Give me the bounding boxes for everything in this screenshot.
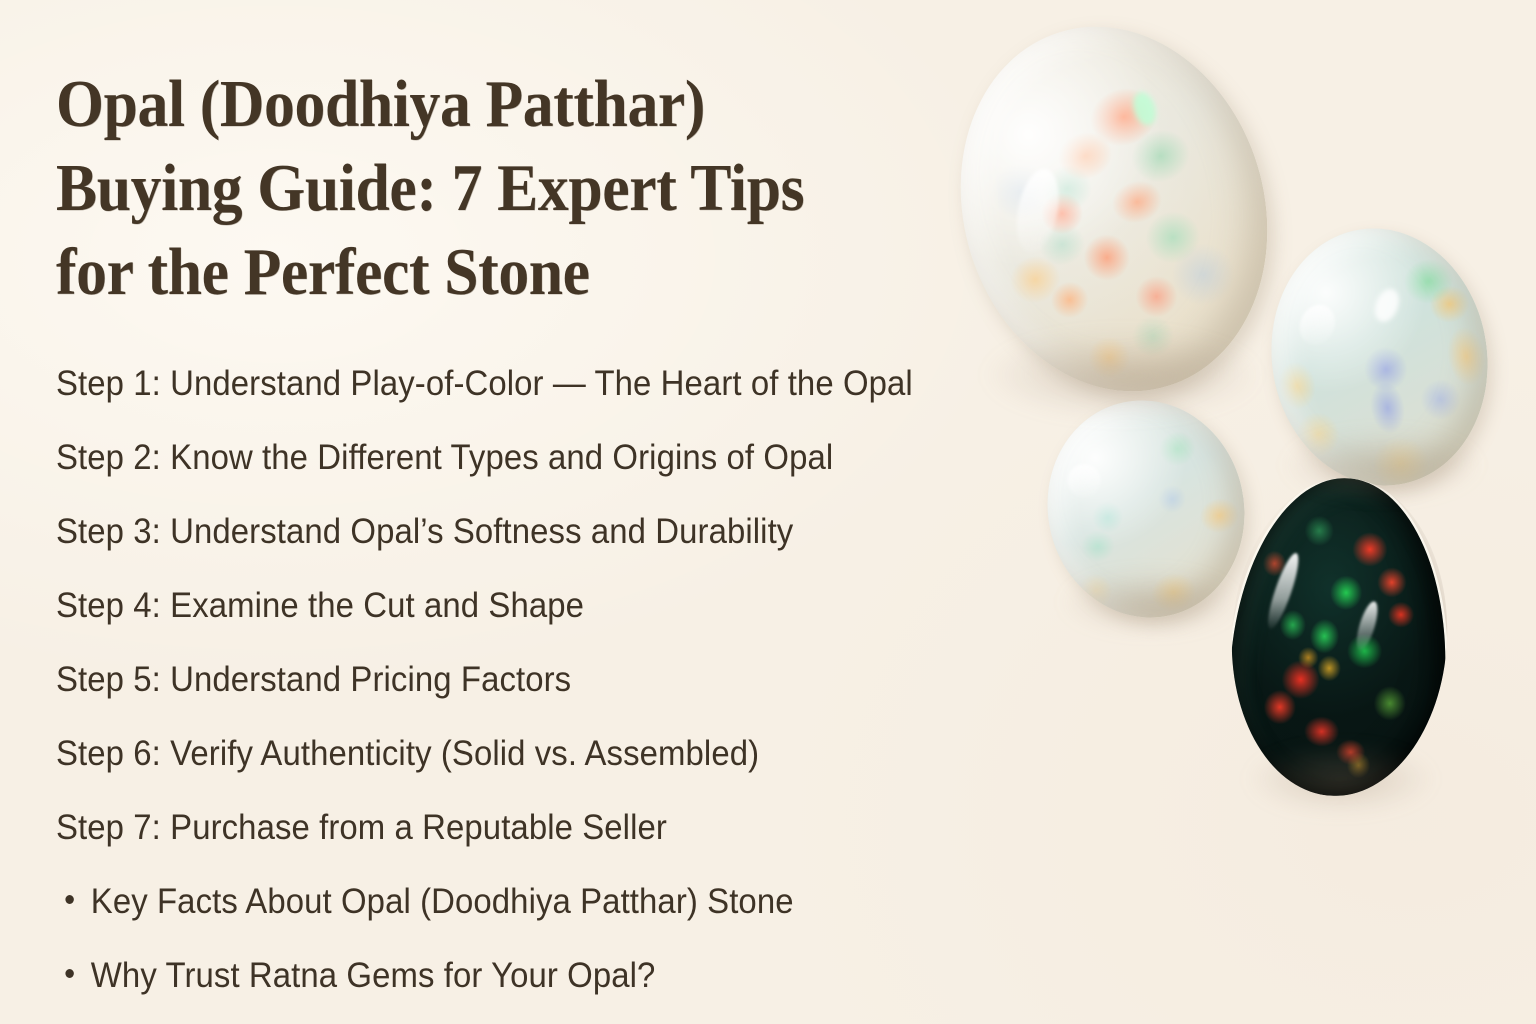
bullet-dot-icon	[65, 895, 73, 904]
gem-highlight-icon	[1263, 551, 1304, 631]
gem-sparkle-icon	[1352, 599, 1381, 652]
step-list: Step 1: Understand Play-of-Color — The H…	[56, 347, 1116, 1013]
bullet-dot-icon	[65, 969, 73, 978]
bullet-label: Why Trust Ratna Gems for Your Opal?	[91, 939, 656, 1013]
bullet-label: Key Facts About Opal (Doodhiya Patthar) …	[91, 865, 794, 939]
list-item-step-7: Step 7: Purchase from a Reputable Seller	[56, 791, 1052, 865]
gem-shadow-right	[1282, 430, 1482, 500]
gem-highlight-icon	[1294, 299, 1342, 350]
list-item-step-2: Step 2: Know the Different Types and Ori…	[56, 421, 1052, 495]
content-column: Opal (Doodhiya Patthar) Buying Guide: 7 …	[56, 62, 1116, 1013]
list-item-step-3: Step 3: Understand Opal’s Softness and D…	[56, 495, 1052, 569]
list-item-step-5: Step 5: Understand Pricing Factors	[56, 643, 1052, 717]
list-item-step-1: Step 1: Understand Play-of-Color — The H…	[56, 347, 1052, 421]
list-item-bullet-2: Why Trust Ratna Gems for Your Opal?	[56, 939, 1052, 1013]
gem-sparkle-icon	[1130, 90, 1160, 128]
gem-shadow-black	[1246, 744, 1436, 814]
list-item-step-4: Step 4: Examine the Cut and Shape	[56, 569, 1052, 643]
infographic-canvas: Opal (Doodhiya Patthar) Buying Guide: 7 …	[0, 0, 1536, 1024]
page-title: Opal (Doodhiya Patthar) Buying Guide: 7 …	[56, 62, 1031, 314]
gem-sparkle-icon	[1370, 285, 1402, 324]
list-item-bullet-1: Key Facts About Opal (Doodhiya Patthar) …	[56, 865, 1052, 939]
list-item-step-6: Step 6: Verify Authenticity (Solid vs. A…	[56, 717, 1052, 791]
